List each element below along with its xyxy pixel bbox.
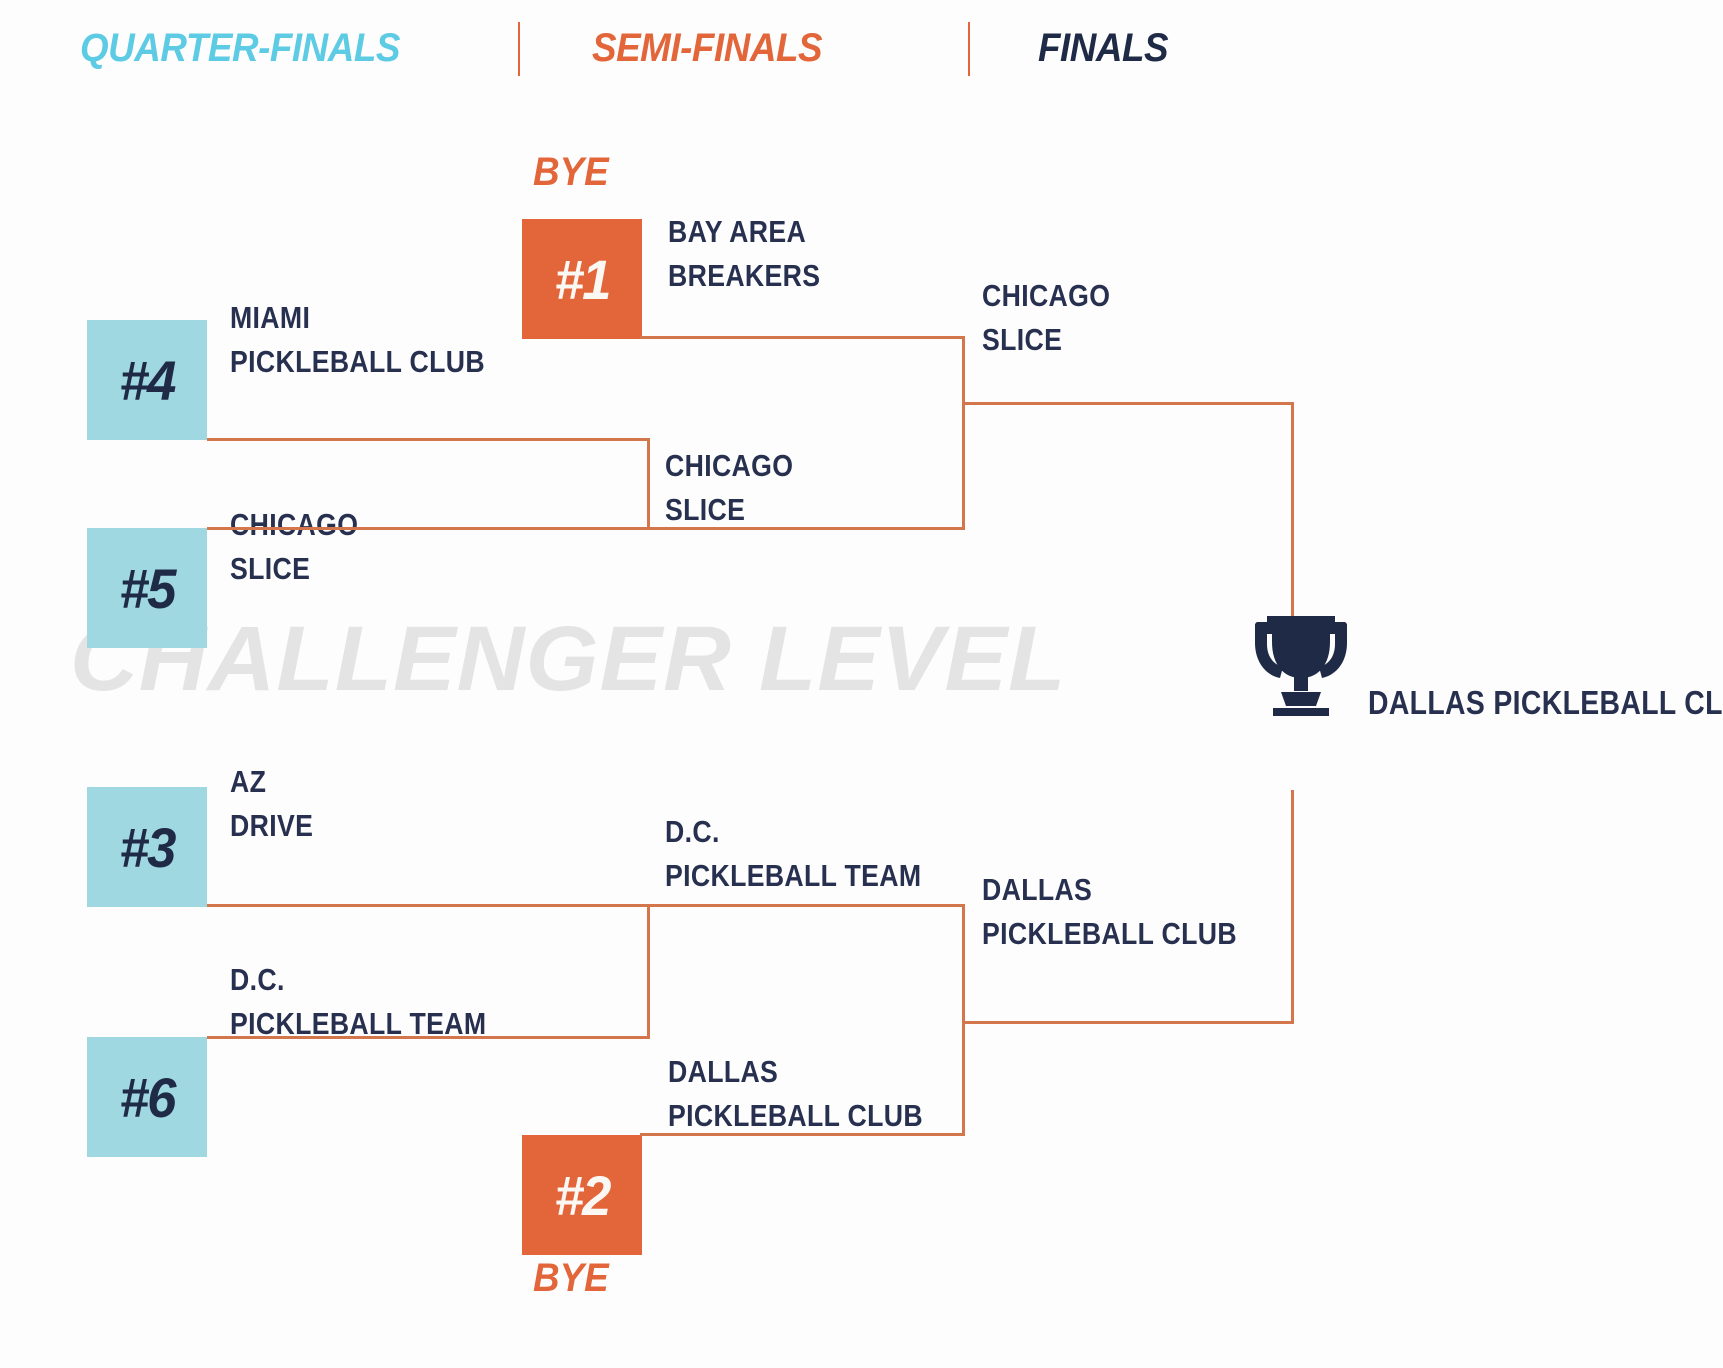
bye-label-seed-1: BYE: [533, 150, 609, 195]
connector-qf-bottom-upper: [207, 904, 650, 907]
team-name-line2: PICKLEBALL TEAM: [230, 1002, 486, 1046]
seed-number-4: #4: [120, 348, 175, 413]
seed-chip-6[interactable]: #6: [87, 1037, 207, 1157]
winner-sf-top[interactable]: CHICAGO SLICE: [982, 274, 1110, 362]
team-name-line2: PICKLEBALL CLUB: [668, 1094, 923, 1138]
winner-name-line2: SLICE: [665, 488, 793, 532]
seed-chip-5[interactable]: #5: [87, 528, 207, 648]
seed-number-3: #3: [120, 815, 175, 880]
team-az-drive[interactable]: AZ DRIVE: [230, 760, 313, 848]
connector-final-lower: [962, 1021, 1294, 1024]
connector-qf-bottom-lower: [207, 1036, 650, 1039]
seed-number-5: #5: [120, 556, 175, 621]
connector-qf-top-lower: [207, 527, 650, 530]
team-dc-pickleball-team[interactable]: D.C. PICKLEBALL TEAM: [230, 958, 486, 1046]
seed-number-6: #6: [120, 1065, 175, 1130]
team-name-line2: DRIVE: [230, 804, 313, 848]
champion-name-line1: DALLAS: [1368, 684, 1485, 721]
team-name-line2: BREAKERS: [668, 254, 820, 298]
connector-sf-top-vertical: [962, 336, 965, 530]
seed-chip-3[interactable]: #3: [87, 787, 207, 907]
seed-chip-2[interactable]: #2: [522, 1135, 642, 1255]
winner-qf-bottom[interactable]: D.C. PICKLEBALL TEAM: [665, 810, 921, 898]
round-label-semi-finals: SEMI-FINALS: [592, 26, 822, 71]
winner-name-line2: PICKLEBALL CLUB: [982, 912, 1237, 956]
connector-final-vertical-bottom: [1291, 790, 1294, 1024]
winner-name-line1: D.C.: [665, 814, 720, 849]
round-label-finals: FINALS: [1038, 26, 1168, 71]
trophy-icon: [1243, 612, 1359, 716]
connector-sf-top-upper: [640, 336, 965, 339]
seed-number-2: #2: [555, 1163, 610, 1228]
connector-sf-top-lower: [647, 527, 965, 530]
team-name-line1: D.C.: [230, 962, 285, 997]
team-chicago-slice-seed5[interactable]: CHICAGO SLICE: [230, 503, 358, 591]
header-divider-2: [968, 22, 970, 76]
seed-number-1: #1: [555, 247, 610, 312]
team-miami-pickleball-club[interactable]: MIAMI PICKLEBALL CLUB: [230, 296, 485, 384]
team-name-line1: DALLAS: [668, 1054, 778, 1089]
team-name-line1: AZ: [230, 764, 266, 799]
team-name-line2: SLICE: [230, 547, 358, 591]
connector-qf-top-upper: [207, 438, 650, 441]
bracket-canvas: QUARTER-FINALS SEMI-FINALS FINALS CHALLE…: [0, 0, 1723, 1368]
champion-name-line2: PICKLEBALL CLUB: [1493, 684, 1723, 721]
team-name-line1: BAY AREA: [668, 214, 806, 249]
champion-team[interactable]: DALLAS PICKLEBALL CLUB: [1368, 680, 1723, 727]
team-dallas-pickleball-club[interactable]: DALLAS PICKLEBALL CLUB: [668, 1050, 923, 1138]
bye-label-seed-2: BYE: [533, 1256, 609, 1301]
challenger-level-watermark: CHALLENGER LEVEL: [70, 613, 1066, 705]
connector-qf-bottom-vertical: [647, 904, 650, 1039]
team-name-line2: PICKLEBALL CLUB: [230, 340, 485, 384]
connector-sf-bottom-lower: [640, 1133, 965, 1136]
team-bay-area-breakers[interactable]: BAY AREA BREAKERS: [668, 210, 820, 298]
team-name-line1: CHICAGO: [230, 507, 358, 542]
connector-qf-top-vertical: [647, 438, 650, 530]
winner-qf-top[interactable]: CHICAGO SLICE: [665, 444, 793, 532]
winner-name-line2: SLICE: [982, 318, 1110, 362]
connector-final-vertical-top: [1291, 402, 1294, 635]
connector-sf-bottom-upper: [647, 904, 965, 907]
winner-sf-bottom[interactable]: DALLAS PICKLEBALL CLUB: [982, 868, 1237, 956]
winner-name-line2: PICKLEBALL TEAM: [665, 854, 921, 898]
connector-final-upper: [962, 402, 1294, 405]
seed-chip-1[interactable]: #1: [522, 219, 642, 339]
winner-name-line1: CHICAGO: [982, 278, 1110, 313]
header-divider-1: [518, 22, 520, 76]
winner-name-line1: DALLAS: [982, 872, 1092, 907]
connector-sf-bottom-vertical: [962, 904, 965, 1136]
round-label-quarter-finals: QUARTER-FINALS: [80, 26, 400, 71]
seed-chip-4[interactable]: #4: [87, 320, 207, 440]
team-name-line1: MIAMI: [230, 300, 310, 335]
winner-name-line1: CHICAGO: [665, 448, 793, 483]
